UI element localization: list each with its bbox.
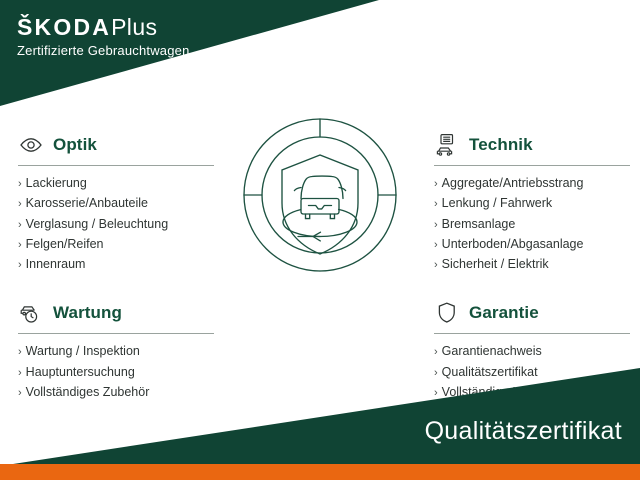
chevron-right-icon: › (18, 220, 22, 231)
list-item-label: Aggregate/Antriebsstrang (442, 173, 584, 193)
chevron-right-icon: › (434, 388, 438, 399)
section-technik-divider (434, 165, 630, 166)
list-item: ›Garantienachweis (434, 341, 630, 361)
list-item-label: Karosserie/Anbauteile (26, 193, 148, 213)
car-service-clock-icon (18, 300, 44, 326)
section-optik-title: Optik (53, 135, 97, 155)
chevron-right-icon: › (434, 347, 438, 358)
chevron-right-icon: › (434, 199, 438, 210)
shield-icon (434, 300, 460, 326)
list-item-label: Unterboden/Abgasanlage (442, 234, 584, 254)
certificate-page: ŠKODAPlus Zertifizierte Gebrauchtwagen O… (0, 0, 640, 480)
list-item: ›Hauptuntersuchung (18, 362, 214, 382)
section-optik: Optik ›Lackierung ›Karosserie/Anbauteile… (18, 130, 214, 274)
logo-brand-text: ŠKODA (17, 14, 111, 40)
logo-subtitle: Zertifizierte Gebrauchtwagen (17, 43, 190, 58)
chevron-right-icon: › (18, 347, 22, 358)
list-item: ›Innenraum (18, 254, 214, 274)
list-item-label: Innenraum (26, 254, 86, 274)
list-item-label: Qualitätszertifikat (442, 362, 538, 382)
list-item-label: Wartung / Inspektion (26, 341, 140, 361)
list-item: ›Wartung / Inspektion (18, 341, 214, 361)
chevron-right-icon: › (18, 368, 22, 379)
list-item: ›Lackierung (18, 173, 214, 193)
chevron-right-icon: › (18, 199, 22, 210)
section-wartung-divider (18, 333, 214, 334)
logo-title-line: ŠKODAPlus (17, 14, 190, 40)
chevron-right-icon: › (18, 388, 22, 399)
section-optik-list: ›Lackierung ›Karosserie/Anbauteile ›Verg… (18, 173, 214, 274)
list-item: ›Sicherheit / Elektrik (434, 254, 630, 274)
list-item-label: Bremsanlage (442, 214, 516, 234)
list-item: ›Vollständiges Zubehör (18, 382, 214, 402)
section-technik-list: ›Aggregate/Antriebsstrang ›Lenkung / Fah… (434, 173, 630, 274)
list-item-label: Lenkung / Fahrwerk (442, 193, 552, 213)
chevron-right-icon: › (18, 179, 22, 190)
section-optik-header: Optik (18, 130, 214, 160)
list-item: ›Unterboden/Abgasanlage (434, 234, 630, 254)
list-item: ›Verglasung / Beleuchtung (18, 214, 214, 234)
list-item-label: Lackierung (26, 173, 87, 193)
list-item: ›Karosserie/Anbauteile (18, 193, 214, 213)
list-item: ›Bremsanlage (434, 214, 630, 234)
section-optik-divider (18, 165, 214, 166)
footer-title: Qualitätszertifikat (425, 417, 622, 446)
section-technik-title: Technik (469, 135, 533, 155)
section-technik-header: Technik (434, 130, 630, 160)
chevron-right-icon: › (434, 260, 438, 271)
logo-plus-text: Plus (111, 14, 157, 40)
orange-accent-strip (0, 464, 640, 480)
list-item-label: Vollständiges Zubehör (26, 382, 150, 402)
list-item: ›Aggregate/Antriebsstrang (434, 173, 630, 193)
eye-icon (18, 132, 44, 158)
section-wartung-header: Wartung (18, 298, 214, 328)
chevron-right-icon: › (18, 240, 22, 251)
chevron-right-icon: › (18, 260, 22, 271)
section-garantie-title: Garantie (469, 303, 539, 323)
certified-vehicle-emblem (238, 113, 402, 283)
chevron-right-icon: › (434, 220, 438, 231)
section-wartung: Wartung ›Wartung / Inspektion ›Hauptunte… (18, 298, 214, 402)
section-wartung-list: ›Wartung / Inspektion ›Hauptuntersuchung… (18, 341, 214, 402)
section-technik: Technik ›Aggregate/Antriebsstrang ›Lenku… (434, 130, 630, 274)
chevron-right-icon: › (434, 179, 438, 190)
section-garantie-header: Garantie (434, 298, 630, 328)
list-item-label: Garantienachweis (442, 341, 542, 361)
list-item-label: Felgen/Reifen (26, 234, 104, 254)
list-item: ›Felgen/Reifen (18, 234, 214, 254)
list-item: ›Lenkung / Fahrwerk (434, 193, 630, 213)
list-item-label: Hauptuntersuchung (26, 362, 135, 382)
section-wartung-title: Wartung (53, 303, 122, 323)
left-column: Optik ›Lackierung ›Karosserie/Anbauteile… (18, 130, 214, 424)
chevron-right-icon: › (434, 240, 438, 251)
section-garantie-divider (434, 333, 630, 334)
list-item-label: Sicherheit / Elektrik (442, 254, 549, 274)
car-on-lift-icon (434, 132, 460, 158)
chevron-right-icon: › (434, 368, 438, 379)
list-item-label: Verglasung / Beleuchtung (26, 214, 168, 234)
skoda-plus-logo: ŠKODAPlus Zertifizierte Gebrauchtwagen (17, 14, 190, 58)
